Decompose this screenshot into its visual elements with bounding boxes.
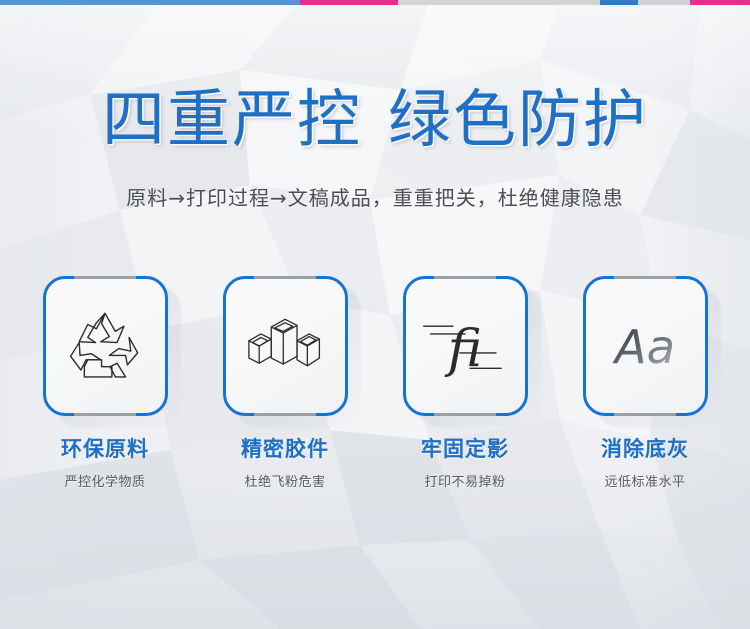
feature-card-3[interactable]: fi [403, 276, 528, 416]
svg-text:Aa: Aa [612, 320, 675, 374]
feature-card-1[interactable] [43, 276, 168, 416]
feature-subtitle-1: 严控化学物质 [64, 471, 145, 490]
feature-title-4: 消除底灰 [601, 433, 689, 463]
feature-card-2[interactable] [223, 276, 348, 416]
headline: 四重严控绿色防护 [102, 88, 648, 151]
aa-typography-icon: Aa [602, 303, 688, 389]
strip-segment-blue-1 [0, 0, 300, 5]
feature-item-2: 精密胶件 杜绝飞粉危害 [223, 276, 348, 490]
card-border-gap-top [254, 276, 316, 279]
feature-item-4: Aa 消除底灰 远低标准水平 [583, 276, 708, 490]
feature-title-1: 环保原料 [61, 433, 149, 463]
feature-title-2: 精密胶件 [241, 433, 329, 463]
headline-part-1: 四重严控 [102, 83, 362, 156]
strip-segment-blue-2 [600, 0, 638, 5]
feature-subtitle-3: 打印不易掉粉 [424, 471, 505, 490]
feature-banner: 四重严控绿色防护 原料→打印过程→文稿成品，重重把关，杜绝健康隐患 环保原料 [0, 0, 750, 629]
feature-card-4[interactable]: Aa [583, 276, 708, 416]
subline-container: 原料→打印过程→文稿成品，重重把关，杜绝健康隐患 [0, 185, 750, 211]
strip-segment-gray-2 [638, 0, 691, 5]
top-color-strip [0, 0, 750, 5]
strip-segment-magenta-2 [690, 0, 750, 5]
card-border-gap-top [74, 276, 136, 279]
headline-part-2: 绿色防护 [388, 83, 648, 156]
feature-item-1: 环保原料 严控化学物质 [43, 276, 168, 490]
strip-segment-magenta-1 [300, 0, 398, 5]
card-border-gap-bottom [434, 413, 496, 416]
feature-list: 环保原料 严控化学物质 [0, 276, 750, 490]
recycle-icon [62, 303, 148, 389]
card-border-gap-bottom [74, 413, 136, 416]
svg-text:fi: fi [444, 320, 482, 380]
subline: 原料→打印过程→文稿成品，重重把关，杜绝健康隐患 [126, 185, 624, 211]
card-border-gap-bottom [254, 413, 316, 416]
feature-title-3: 牢固定影 [421, 433, 509, 463]
feature-subtitle-4: 远低标准水平 [604, 471, 685, 490]
strip-segment-gray-1 [398, 0, 601, 5]
card-border-gap-bottom [614, 413, 676, 416]
isometric-blocks-icon [242, 303, 328, 389]
feature-item-3: fi 牢固定影 打印不易掉粉 [403, 276, 528, 490]
card-border-gap-top [434, 276, 496, 279]
fi-ligature-icon: fi [422, 303, 508, 389]
card-border-gap-top [614, 276, 676, 279]
headline-container: 四重严控绿色防护 [0, 88, 750, 151]
feature-subtitle-2: 杜绝飞粉危害 [244, 471, 325, 490]
